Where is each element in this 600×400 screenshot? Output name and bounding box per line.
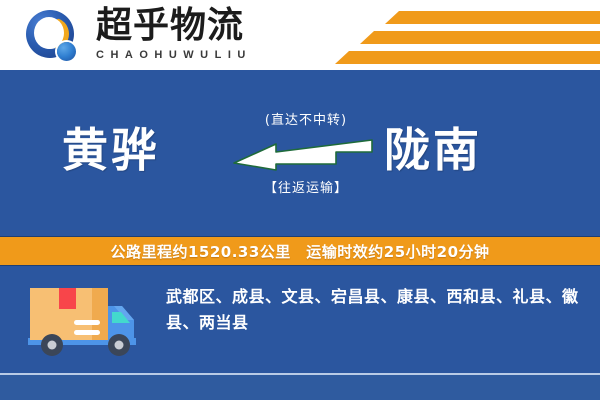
- header-stripes-decoration: [310, 0, 600, 70]
- route-middle-block: (直达不中转) 【往返运输】: [232, 112, 380, 198]
- logistics-route-card: 超乎物流 CHAOHUWULIU 黄骅 (直达不中转) 【往返运输】 陇南 公路…: [0, 0, 600, 400]
- header-stripe-3: [335, 51, 600, 64]
- coverage-districts-text: 武都区、成县、文县、宕昌县、康县、西和县、礼县、徽县、两当县: [166, 284, 582, 336]
- route-note-top: (直达不中转): [232, 112, 380, 130]
- distance-duration-bar: 公路里程约1520.33公里 运输时效约25小时20分钟: [0, 236, 600, 266]
- brand-text-block: 超乎物流 CHAOHUWULIU: [96, 6, 252, 61]
- route-panel: 黄骅 (直达不中转) 【往返运输】 陇南: [0, 70, 600, 236]
- route-note-bottom: 【往返运输】: [232, 180, 380, 198]
- footer-bar: [0, 375, 600, 400]
- logo-dot-icon: [57, 42, 76, 61]
- header-stripe-1: [385, 11, 600, 24]
- brand-logo-icon: [26, 10, 82, 62]
- brand-name-cn: 超乎物流: [96, 6, 252, 46]
- coverage-panel: 武都区、成县、文县、宕昌县、康县、西和县、礼县、徽县、两当县: [0, 266, 600, 373]
- header-stripe-2: [360, 31, 600, 44]
- brand-name-en: CHAOHUWULIU: [96, 49, 252, 61]
- delivery-truck-icon: [22, 280, 144, 358]
- bidirectional-arrow-icon: [232, 136, 380, 176]
- header: 超乎物流 CHAOHUWULIU: [0, 0, 600, 70]
- origin-city: 黄骅: [62, 122, 160, 178]
- destination-city: 陇南: [384, 122, 482, 178]
- distance-duration-text: 公路里程约1520.33公里 运输时效约25小时20分钟: [110, 241, 489, 262]
